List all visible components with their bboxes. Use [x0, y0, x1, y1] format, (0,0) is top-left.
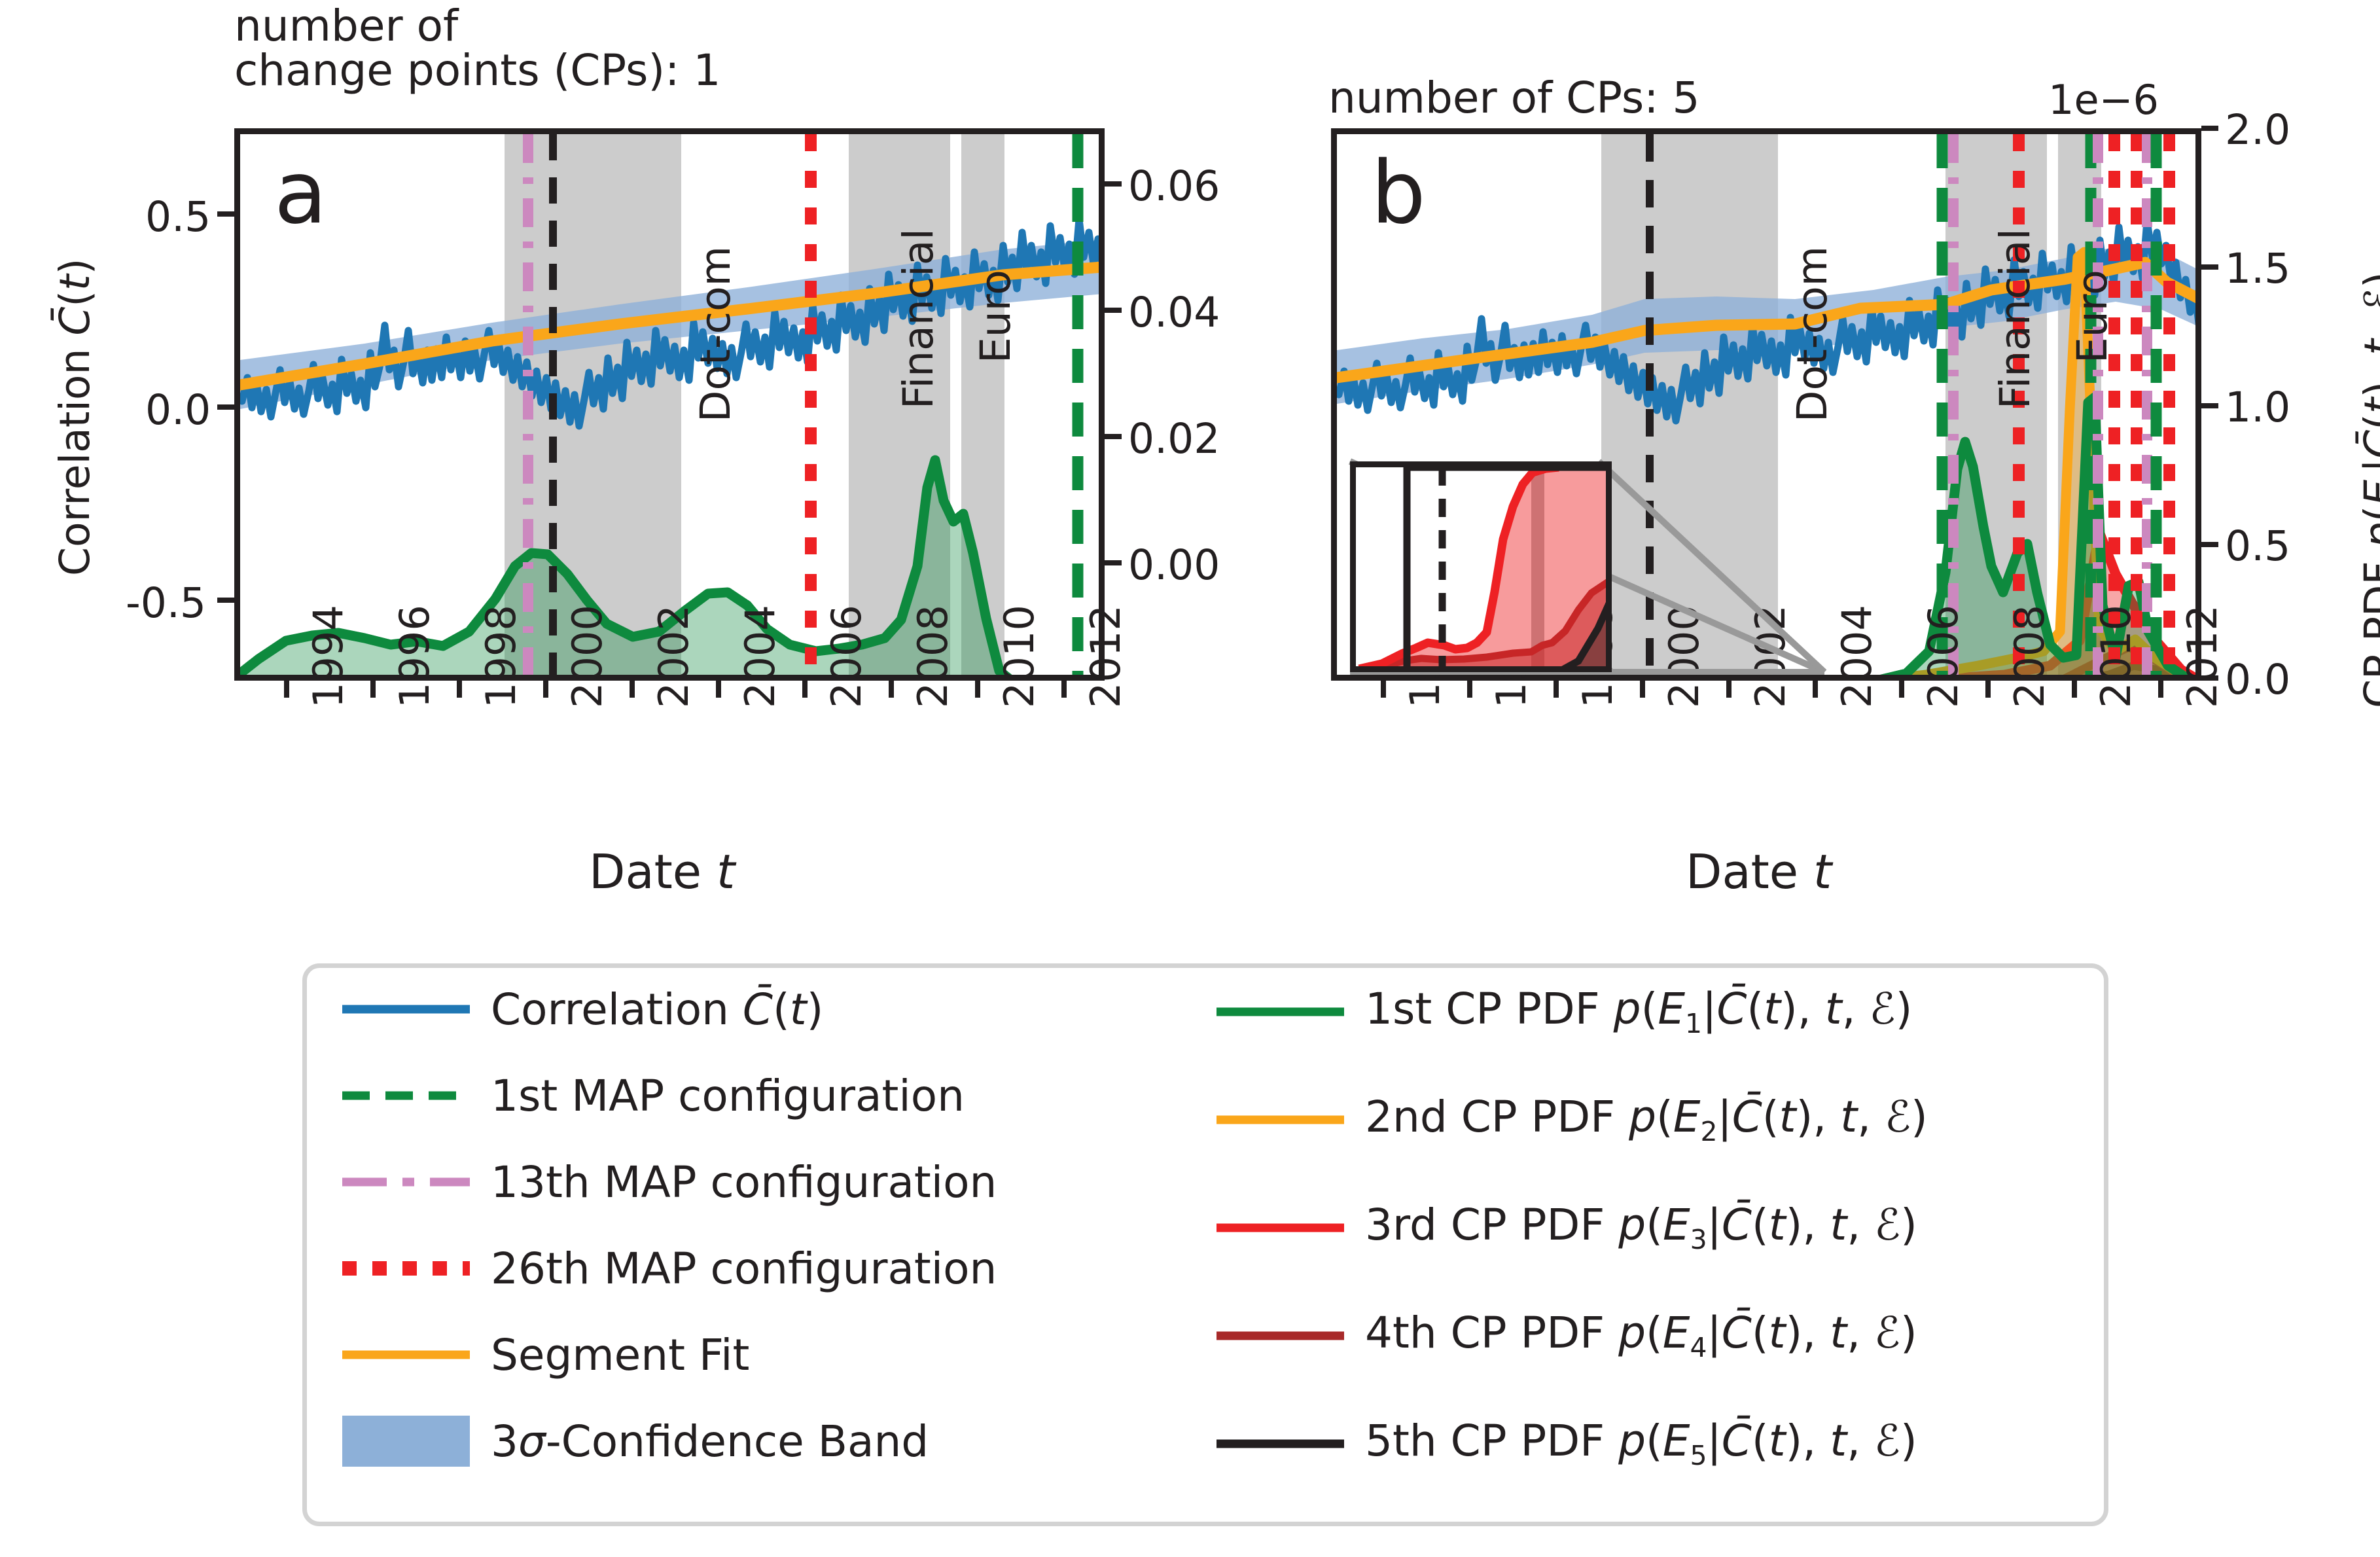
panel-b-rtick-0: 0.0 — [2225, 656, 2290, 704]
panel-a-rtick-2: 0.04 — [1128, 289, 1220, 336]
panel-b-rtick-mark-2 — [2201, 403, 2218, 408]
panel-a-title-line2: change points (CPs): 1 — [234, 46, 720, 96]
recession-label-financial-a: Financial — [895, 228, 942, 409]
inset-plot-svg — [1356, 467, 1612, 672]
legend-item-map-13th[interactable]: 13th MAP configuration — [342, 1156, 997, 1208]
legend-key-confidence-band-icon — [342, 1416, 470, 1467]
panel-b-rtick-mark-4 — [2201, 126, 2218, 131]
panel-a-ytick-mark-0 — [217, 211, 234, 217]
panel-b-axes: Dot-com Financial Euro b — [1331, 128, 2201, 681]
panel-a-ytick-mark-2 — [217, 598, 234, 603]
figure-root: number of change points (CPs): 1 Correla… — [0, 0, 2380, 1557]
legend-label-cp4: 4th CP PDF p(E4|C̄(t), t, ℰ) — [1365, 1308, 1917, 1363]
legend-key-cp5-icon — [1217, 1418, 1344, 1469]
panel-a-title-line1: number of — [234, 1, 458, 51]
legend-label-segment-fit: Segment Fit — [491, 1330, 749, 1380]
panel-a-rtick-mark-2 — [1105, 308, 1122, 313]
panel-b-rtick-mark-3 — [2201, 264, 2218, 270]
legend-item-cp5[interactable]: 5th CP PDF p(E5|C̄(t), t, ℰ) — [1217, 1416, 1917, 1471]
legend-key-map-13th-icon — [342, 1156, 470, 1208]
panel-b-right-ylabel: CP PDF p(Ei|C̄(t), t, ℰ) — [2356, 272, 2380, 708]
panel-b-rtick-3: 1.5 — [2225, 245, 2290, 293]
recession-label-dotcom-a: Dot-com — [692, 246, 739, 422]
legend-key-correlation-icon — [342, 984, 470, 1035]
legend-label-map-26th: 26th MAP configuration — [491, 1244, 997, 1294]
panel-b-offset-label: 1e−6 — [2048, 76, 2159, 124]
panel-a-ytick-1: 0.0 — [145, 386, 211, 434]
legend-label-cp1: 1st CP PDF p(E1|C̄(t), t, ℰ) — [1365, 984, 1912, 1039]
legend-item-cp2[interactable]: 2nd CP PDF p(E2|C̄(t), t, ℰ) — [1217, 1092, 1928, 1147]
panel-a-xtick-2010: 2010 — [995, 605, 1043, 708]
panel-a-left-ylabel: Correlation C̄(t) — [51, 259, 99, 576]
legend-box: Correlation C̄(t) 1st MAP configuration … — [302, 963, 2108, 1526]
panel-a-axes: Dot-com Financial Euro a — [234, 128, 1105, 681]
panel-a-ytick-mark-1 — [217, 404, 234, 410]
panel-a-xtick-1996: 1996 — [391, 605, 438, 708]
legend-item-segment-fit[interactable]: Segment Fit — [342, 1329, 749, 1380]
panel-a-rtick-mark-3 — [1105, 181, 1122, 187]
panel-b-rtick-4: 2.0 — [2225, 106, 2290, 154]
legend-label-cp5: 5th CP PDF p(E5|C̄(t), t, ℰ) — [1365, 1416, 1917, 1471]
legend-item-cp3[interactable]: 3rd CP PDF p(E3|C̄(t), t, ℰ) — [1217, 1200, 1917, 1255]
legend-key-cp2-icon — [1217, 1094, 1344, 1145]
panel-a-xtick-2006: 2006 — [823, 605, 870, 708]
panel-a-ytick-0: 0.5 — [145, 193, 211, 241]
legend-key-map-26th-icon — [342, 1243, 470, 1294]
panel-a-xtick-2004: 2004 — [736, 605, 784, 708]
legend-key-map-1st-icon — [342, 1070, 470, 1121]
legend-label-cp3: 3rd CP PDF p(E3|C̄(t), t, ℰ) — [1365, 1200, 1917, 1255]
legend-item-cp4[interactable]: 4th CP PDF p(E4|C̄(t), t, ℰ) — [1217, 1308, 1917, 1363]
panel-a-ytick-2: -0.5 — [126, 579, 206, 627]
legend-key-segment-fit-icon — [342, 1329, 470, 1380]
panel-a-rtick-mark-1 — [1105, 434, 1122, 439]
panel-b-inset — [1350, 461, 1612, 672]
panel-b-xlabel: Date t — [1686, 844, 1832, 899]
panel-a-xtick-2008: 2008 — [909, 605, 957, 708]
panel-b-title: number of CPs: 5 — [1328, 73, 1699, 123]
panel-a-rtick-1: 0.02 — [1128, 415, 1220, 463]
panel-b-letter: b — [1371, 150, 1426, 236]
panel-a-plot-svg — [240, 134, 1105, 681]
panel-a-xtick-1998: 1998 — [477, 605, 525, 708]
legend-label-map-1st: 1st MAP configuration — [491, 1071, 965, 1121]
panel-a-rtick-0: 0.00 — [1128, 541, 1220, 589]
panel-a-xtick-2000: 2000 — [563, 605, 611, 708]
legend-item-confidence-band[interactable]: 3σ-Confidence Band — [342, 1416, 929, 1467]
legend-label-cp2: 2nd CP PDF p(E2|C̄(t), t, ℰ) — [1365, 1092, 1928, 1147]
panel-a-letter: a — [274, 150, 327, 236]
panel-a-xlabel: Date t — [589, 844, 735, 899]
panel-a-rtick-mark-0 — [1105, 560, 1122, 565]
legend-label-confidence-band: 3σ-Confidence Band — [491, 1416, 929, 1467]
legend-item-map-26th[interactable]: 26th MAP configuration — [342, 1243, 997, 1294]
legend-item-cp1[interactable]: 1st CP PDF p(E1|C̄(t), t, ℰ) — [1217, 984, 1912, 1039]
panel-a-xtick-2002: 2002 — [650, 605, 698, 708]
panel-b-rtick-2: 1.0 — [2225, 384, 2290, 431]
legend-label-map-13th: 13th MAP configuration — [491, 1157, 997, 1208]
recession-label-euro-a: Euro — [972, 270, 1020, 363]
legend-item-map-1st[interactable]: 1st MAP configuration — [342, 1070, 965, 1121]
panel-b-rtick-1: 0.5 — [2225, 522, 2290, 570]
legend-key-cp4-icon — [1217, 1310, 1344, 1361]
legend-key-cp3-icon — [1217, 1202, 1344, 1253]
panel-a-xtick-1994: 1994 — [304, 605, 352, 708]
panel-b-rtick-mark-1 — [2201, 542, 2218, 547]
panel-a-rtick-3: 0.06 — [1128, 162, 1220, 210]
legend-key-cp1-icon — [1217, 986, 1344, 1037]
legend-label-correlation: Correlation C̄(t) — [491, 984, 823, 1035]
legend-item-correlation[interactable]: Correlation C̄(t) — [342, 984, 823, 1035]
panel-a-xtick-2012: 2012 — [1082, 605, 1129, 708]
